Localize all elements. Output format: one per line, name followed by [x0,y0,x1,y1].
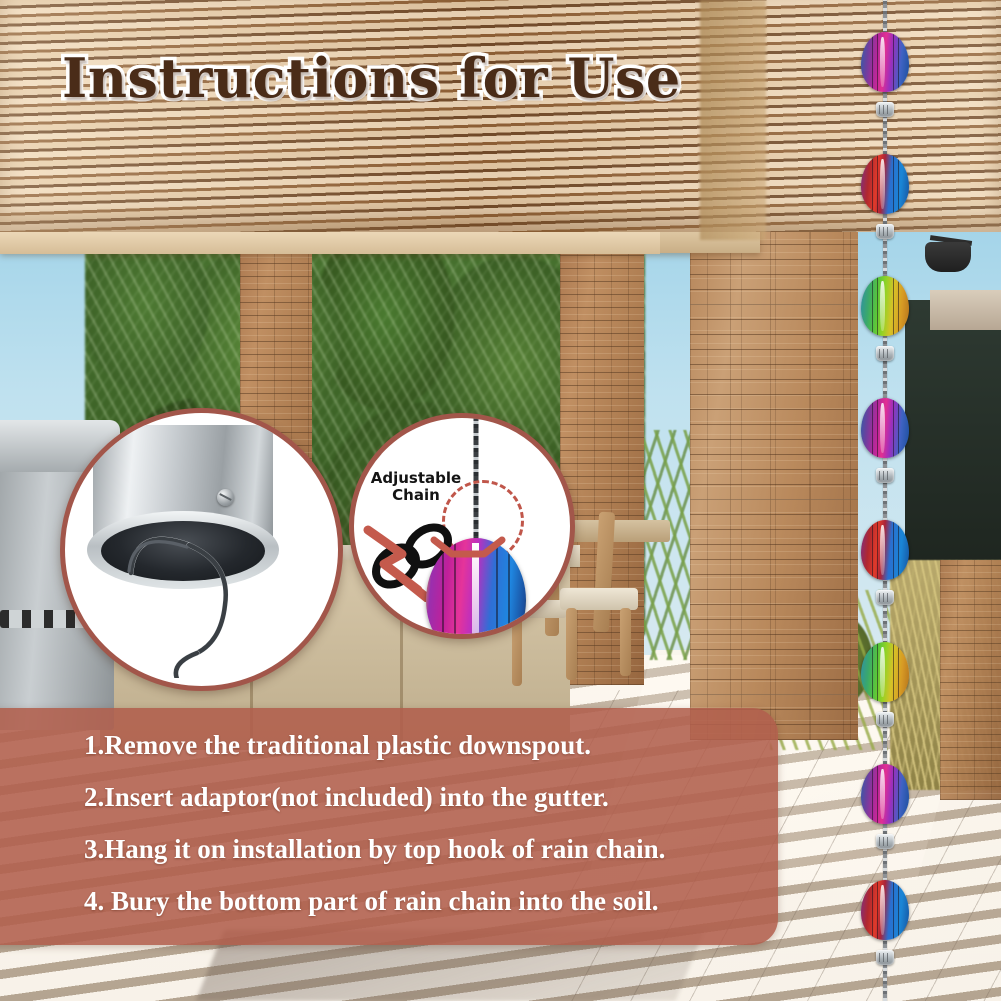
chain-bead [876,834,894,849]
instruction-step: 4. Bury the bottom part of rain chain in… [84,888,784,915]
instruction-step: 2.Insert adaptor(not included) into the … [84,784,784,811]
patio-chair-leg [620,608,631,676]
chain-bead [876,102,894,117]
infographic-root: Instructions for Use Adjustable [0,0,1001,1001]
adjust-arrows-icon [430,536,506,566]
callout-adjustable-chain: Adjustable Chain [349,413,575,639]
adjustable-chain-label-line1: Adjustable [360,470,472,487]
patio-chair-seat [560,588,638,610]
chain-cup [861,398,909,458]
chain-cup [861,276,909,336]
instruction-step: 3.Hang it on installation by top hook of… [84,836,784,863]
chain-links [883,0,887,1001]
chain-cup [861,520,909,580]
adjustable-chain-label-line2: Chain [360,487,472,504]
chain-bead [876,346,894,361]
chain-bead [876,224,894,239]
chain-bead [876,712,894,727]
callout-downspout-hook [60,408,343,691]
far-wall [905,300,1001,590]
lamp-head-icon [925,242,971,272]
chain-cup [861,154,909,214]
instructions-list: 1.Remove the traditional plastic downspo… [84,732,784,940]
chain-cup [861,32,909,92]
chain-bead [876,468,894,483]
patio-chair-leg [566,608,577,680]
stone-column-far [940,560,1001,800]
chain-bead [876,950,894,965]
chain-cup [861,642,909,702]
pergola-beam [700,0,766,240]
page-title: Instructions for Use [62,46,681,110]
far-roof [930,290,1001,330]
chain-bead [876,590,894,605]
instruction-step: 1.Remove the traditional plastic downspo… [84,732,784,759]
chain-cup [861,880,909,940]
pergola-light-gradient [0,0,1001,232]
s-hook-icon [85,513,315,678]
adjustable-chain-label: Adjustable Chain [360,470,472,504]
chain-cup [861,764,909,824]
rain-chain [858,0,912,1001]
mounting-screw-icon [217,489,234,506]
